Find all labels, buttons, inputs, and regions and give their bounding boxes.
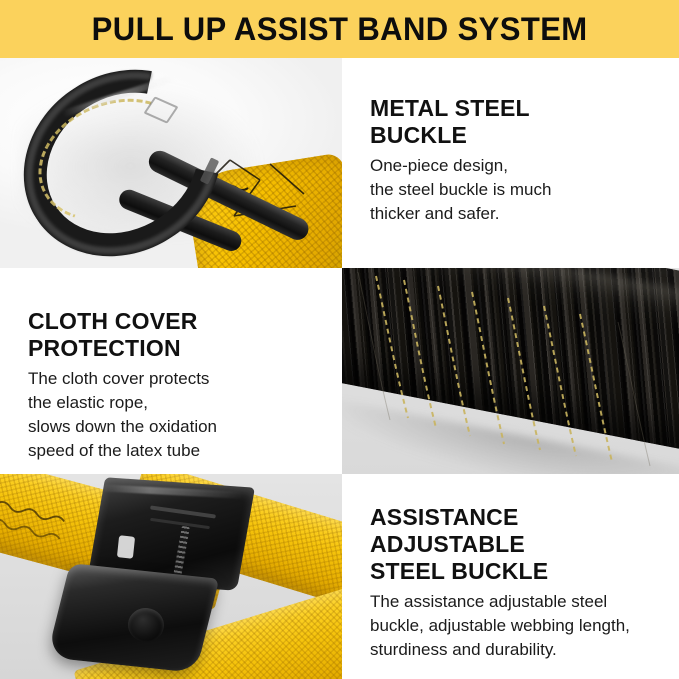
text-metal-steel-buckle: METAL STEEL BUCKLE One-piece design, the…	[342, 58, 679, 268]
text-inner-assistance-adjustable-steel-buckle: ASSISTANCE ADJUSTABLE STEEL BUCKLE The a…	[370, 504, 665, 662]
heading-metal-steel-buckle: METAL STEEL BUCKLE	[370, 95, 665, 149]
text-assistance-adjustable-steel-buckle: ASSISTANCE ADJUSTABLE STEEL BUCKLE The a…	[342, 474, 679, 679]
page-title: PULL UP ASSIST BAND SYSTEM	[92, 11, 588, 48]
body-assistance-adjustable-steel-buckle: The assistance adjustable steel buckle, …	[370, 590, 665, 662]
text-inner-metal-steel-buckle: METAL STEEL BUCKLE One-piece design, the…	[370, 95, 665, 226]
photo-metal-steel-buckle	[0, 58, 342, 268]
text-cloth-cover-protection: CLOTH COVER PROTECTION The cloth cover p…	[0, 268, 342, 474]
body-metal-steel-buckle: One-piece design, the steel buckle is mu…	[370, 154, 665, 226]
buckle-opening	[117, 535, 135, 559]
photo-assistance-adjustable-steel-buckle	[0, 474, 342, 679]
body-cloth-cover-protection: The cloth cover protects the elastic rop…	[28, 367, 328, 463]
header-banner: PULL UP ASSIST BAND SYSTEM	[0, 0, 679, 58]
heading-cloth-cover-protection: CLOTH COVER PROTECTION	[28, 308, 328, 362]
cam-buckle-photo	[0, 474, 342, 679]
photo-cloth-cover-protection	[342, 268, 679, 474]
heading-assistance-adjustable-steel-buckle: ASSISTANCE ADJUSTABLE STEEL BUCKLE	[370, 504, 665, 585]
rope-yellow-thread-lines-icon	[342, 268, 679, 474]
carabiner-photo	[0, 58, 342, 268]
text-inner-cloth-cover-protection: CLOTH COVER PROTECTION The cloth cover p…	[28, 308, 328, 463]
product-infographic: PULL UP ASSIST BAND SYSTEM	[0, 0, 679, 679]
braided-rope-photo	[342, 268, 679, 474]
feature-grid: METAL STEEL BUCKLE One-piece design, the…	[0, 58, 679, 679]
